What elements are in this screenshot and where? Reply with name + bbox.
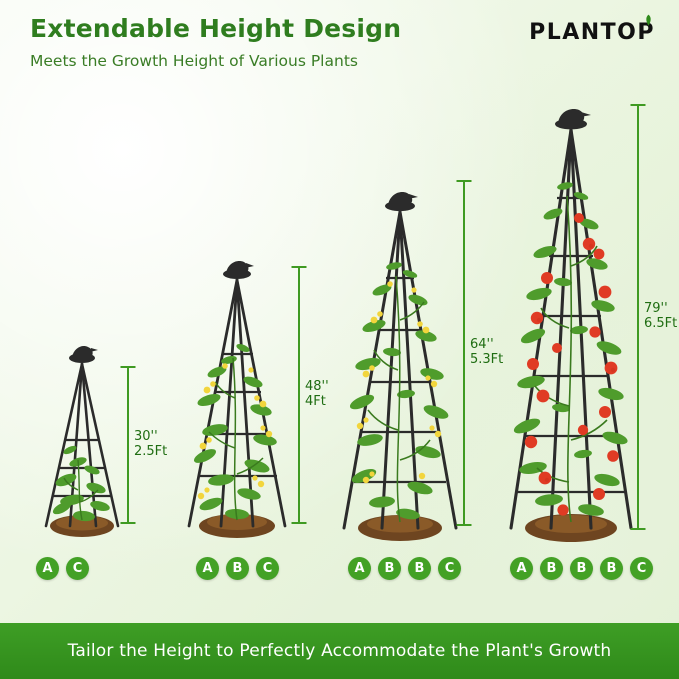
bird-finial-icon: [69, 346, 98, 363]
badge-row-30: A C: [36, 557, 89, 580]
badge-c-48[interactable]: C: [256, 557, 279, 580]
measurement-64: 64'' 5.3Ft: [456, 180, 472, 526]
measurement-30: 30'' 2.5Ft: [120, 366, 136, 524]
badge-a-30[interactable]: A: [36, 557, 59, 580]
measure-bar: [463, 180, 465, 526]
measure-bar: [127, 366, 129, 524]
badge-row-64: A B B C: [348, 557, 461, 580]
badge-a-48[interactable]: A: [196, 557, 219, 580]
badge-row-48: A B C: [196, 557, 279, 580]
product-infographic: Extendable Height Design Meets the Growt…: [0, 0, 679, 679]
trellis-group-64: 64'' 5.3Ft: [322, 180, 512, 558]
measure-bar: [298, 266, 300, 524]
trellis-group-48: 48'' 4Ft: [165, 248, 345, 556]
measure-feet-30: 2.5Ft: [134, 444, 167, 459]
leaf-icon: [642, 14, 655, 27]
bird-finial-icon: [555, 109, 591, 129]
page-subtitle: Meets the Growth Height of Various Plant…: [30, 52, 358, 70]
page-title: Extendable Height Design: [30, 14, 401, 43]
measurement-79: 79'' 6.5Ft: [630, 104, 646, 530]
badge-a-64[interactable]: A: [348, 557, 371, 580]
measurement-48: 48'' 4Ft: [291, 266, 307, 524]
measure-inches-79: 79'': [644, 301, 668, 316]
badge-b3-79[interactable]: B: [600, 557, 623, 580]
trellis-group-79: 79'' 6.5Ft: [487, 96, 679, 558]
brand-logo: PLANTOP: [529, 20, 655, 45]
measure-cap-bottom: [631, 528, 646, 530]
measure-cap-bottom: [292, 522, 307, 524]
bird-finial-icon: [385, 192, 418, 211]
badge-b-48[interactable]: B: [226, 557, 249, 580]
badge-b2-79[interactable]: B: [570, 557, 593, 580]
measure-cap-top: [292, 266, 307, 268]
badge-a-79[interactable]: A: [510, 557, 533, 580]
badge-b1-79[interactable]: B: [540, 557, 563, 580]
badge-row-79: A B B B C: [510, 557, 653, 580]
measure-inches-30: 30'': [134, 429, 158, 444]
badge-c-30[interactable]: C: [66, 557, 89, 580]
measure-label-79: 79'' 6.5Ft: [641, 300, 679, 334]
measure-bar: [637, 104, 639, 530]
measure-cap-top: [121, 366, 136, 368]
footer-text: Tailor the Height to Perfectly Accommoda…: [68, 641, 612, 661]
measure-cap-top: [457, 180, 472, 182]
badge-c-79[interactable]: C: [630, 557, 653, 580]
measure-feet-79: 6.5Ft: [644, 316, 677, 331]
badge-b1-64[interactable]: B: [378, 557, 401, 580]
brand-name: PLANTOP: [529, 20, 655, 45]
badge-c-64[interactable]: C: [438, 557, 461, 580]
measure-cap-bottom: [457, 524, 472, 526]
footer-banner: Tailor the Height to Perfectly Accommoda…: [0, 623, 679, 679]
measure-cap-top: [631, 104, 646, 106]
bird-finial-icon: [223, 261, 254, 279]
measure-cap-bottom: [121, 522, 136, 524]
badge-b2-64[interactable]: B: [408, 557, 431, 580]
